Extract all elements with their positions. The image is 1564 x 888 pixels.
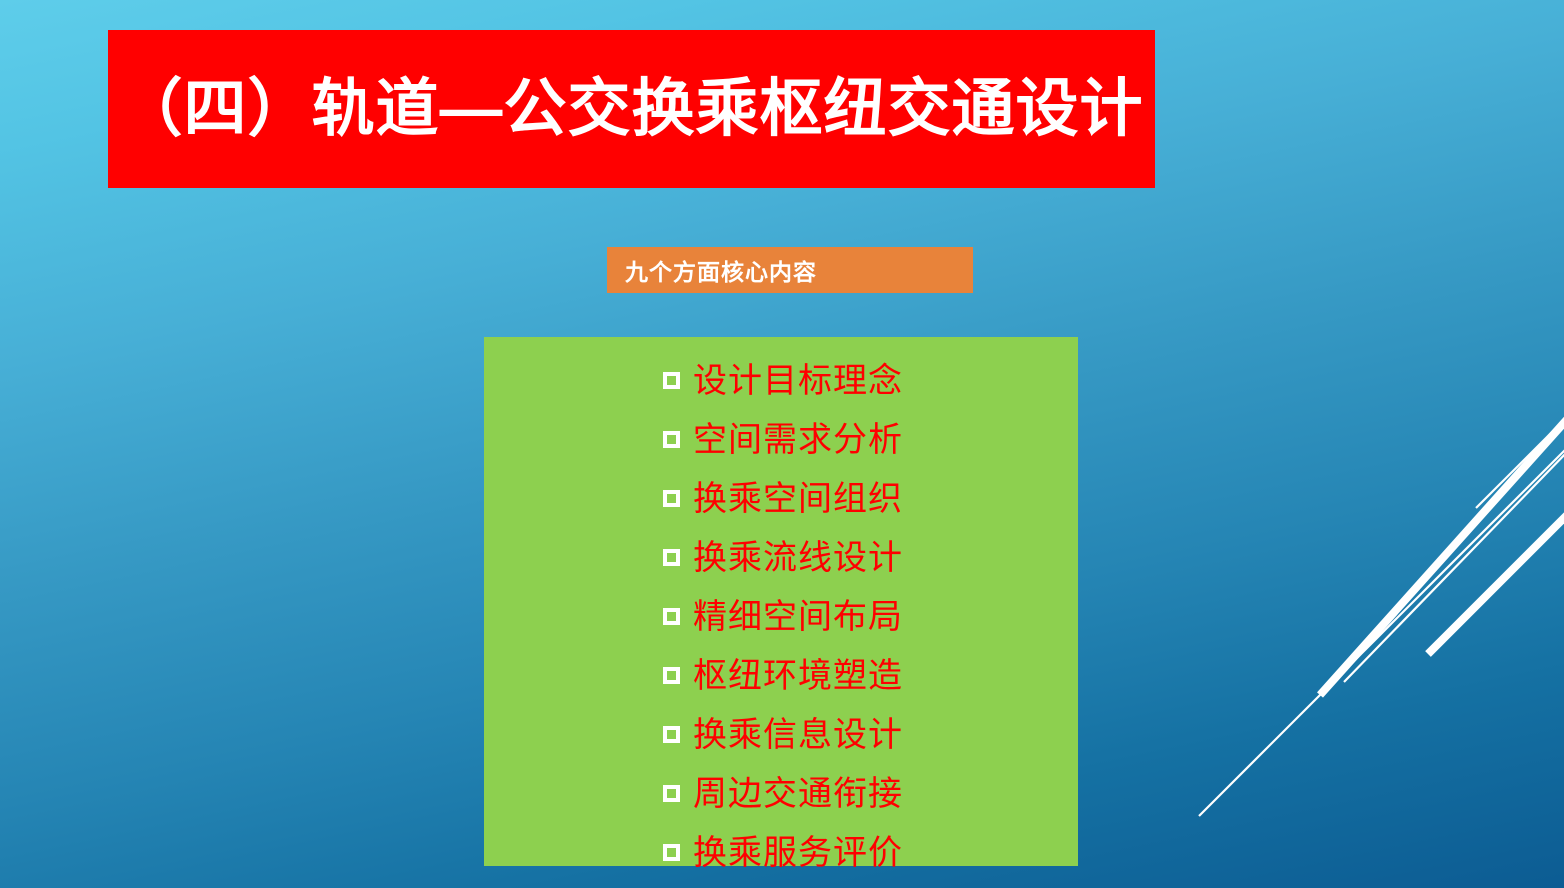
list-item[interactable]: 换乘信息设计: [484, 705, 1078, 764]
square-bullet-icon: [663, 431, 680, 448]
list-item[interactable]: 周边交通衔接: [484, 764, 1078, 823]
list-item[interactable]: 换乘服务评价: [484, 823, 1078, 882]
list-item[interactable]: 空间需求分析: [484, 410, 1078, 469]
list-item[interactable]: 换乘空间组织: [484, 469, 1078, 528]
subheading-label: 九个方面核心内容: [625, 253, 817, 287]
subheading-banner: 九个方面核心内容: [607, 247, 973, 293]
list-item-label: 周边交通衔接: [693, 777, 903, 811]
list-item-label: 空间需求分析: [693, 423, 903, 457]
list-item[interactable]: 枢纽环境塑造: [484, 646, 1078, 705]
streak-line-1: [1199, 445, 1564, 816]
list-item[interactable]: 设计目标理念: [484, 351, 1078, 410]
presentation-slide: （四）轨道—公交换乘枢纽交通设计 九个方面核心内容 设计目标理念空间需求分析换乘…: [0, 0, 1564, 888]
list-item-label: 换乘流线设计: [693, 541, 903, 575]
list-item-label: 换乘空间组织: [693, 482, 903, 516]
square-bullet-icon: [663, 785, 680, 802]
square-bullet-icon: [663, 608, 680, 625]
content-panel: 设计目标理念空间需求分析换乘空间组织换乘流线设计精细空间布局枢纽环境塑造换乘信息…: [484, 337, 1078, 866]
list-item-label: 枢纽环境塑造: [693, 659, 903, 693]
core-topics-list: 设计目标理念空间需求分析换乘空间组织换乘流线设计精细空间布局枢纽环境塑造换乘信息…: [484, 351, 1078, 882]
list-item-label: 设计目标理念: [693, 364, 903, 398]
slide-title-banner: （四）轨道—公交换乘枢纽交通设计: [108, 30, 1155, 188]
square-bullet-icon: [663, 549, 680, 566]
streak-line-5: [1428, 512, 1564, 654]
streak-line-2: [1320, 416, 1564, 695]
list-item-label: 换乘服务评价: [693, 836, 903, 870]
streak-line-4: [1476, 414, 1564, 508]
list-item[interactable]: 换乘流线设计: [484, 528, 1078, 587]
square-bullet-icon: [663, 490, 680, 507]
square-bullet-icon: [663, 667, 680, 684]
page-title: （四）轨道—公交换乘枢纽交通设计: [120, 76, 1144, 142]
list-item[interactable]: 精细空间布局: [484, 587, 1078, 646]
square-bullet-icon: [663, 726, 680, 743]
streak-line-3: [1344, 449, 1564, 682]
square-bullet-icon: [663, 844, 680, 861]
list-item-label: 换乘信息设计: [693, 718, 903, 752]
list-item-label: 精细空间布局: [693, 600, 903, 634]
square-bullet-icon: [663, 372, 680, 389]
